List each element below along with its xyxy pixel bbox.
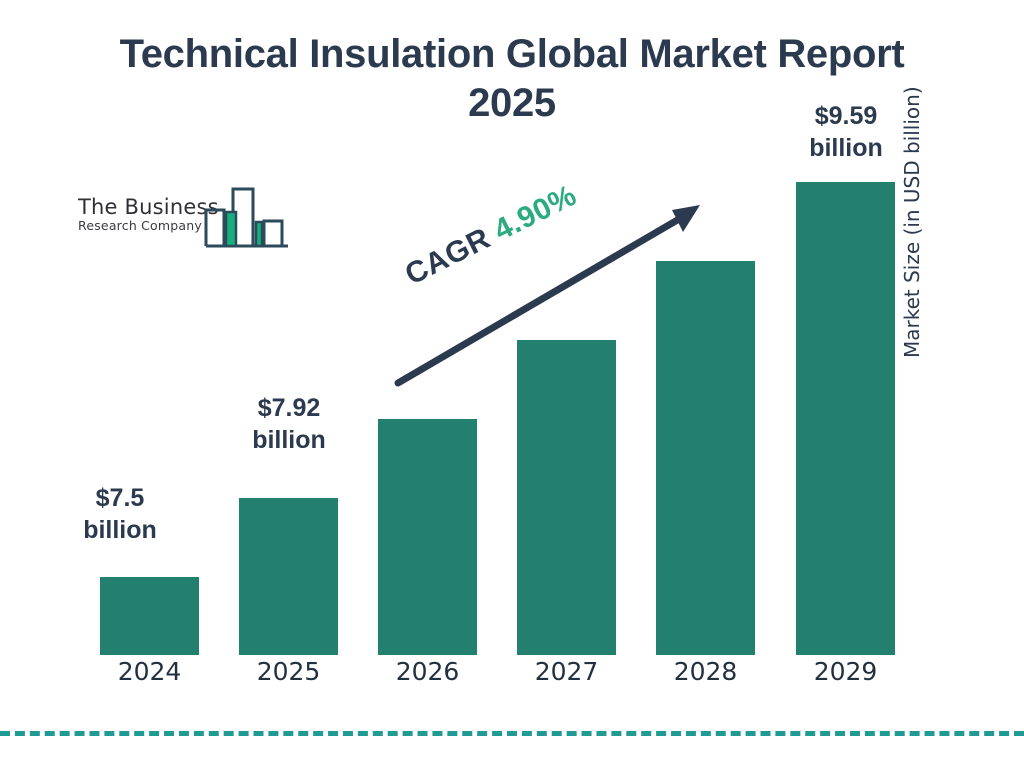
x-tick-2025: 2025: [239, 657, 338, 686]
x-tick-2027: 2027: [517, 657, 616, 686]
bar-label-2025-value: $7.92: [229, 392, 349, 424]
x-tick-2026: 2026: [378, 657, 477, 686]
chart-canvas: Technical Insulation Global Market Repor…: [0, 0, 1024, 768]
footer-divider: [0, 731, 1024, 736]
x-tick-2029: 2029: [796, 657, 895, 686]
plot-area: $7.5 billion $7.92 billion $9.59 billion…: [0, 0, 1024, 768]
bar-label-2024: $7.5 billion: [60, 482, 180, 546]
bar-label-2024-unit: billion: [60, 514, 180, 546]
bar-2024[interactable]: [100, 577, 199, 655]
bar-2027[interactable]: [517, 340, 616, 655]
bar-label-2024-value: $7.5: [60, 482, 180, 514]
bar-label-2029: $9.59 billion: [786, 100, 906, 164]
bar-2028[interactable]: [656, 261, 755, 655]
bar-2029[interactable]: [796, 182, 895, 655]
bar-label-2029-unit: billion: [786, 132, 906, 164]
y-axis-label: Market Size (in USD billion): [900, 18, 924, 358]
x-tick-2024: 2024: [100, 657, 199, 686]
bar-label-2025: $7.92 billion: [229, 392, 349, 456]
bar-label-2029-value: $9.59: [786, 100, 906, 132]
x-tick-2028: 2028: [656, 657, 755, 686]
bar-2026[interactable]: [378, 419, 477, 655]
bar-2025[interactable]: [239, 498, 338, 655]
bar-label-2025-unit: billion: [229, 424, 349, 456]
